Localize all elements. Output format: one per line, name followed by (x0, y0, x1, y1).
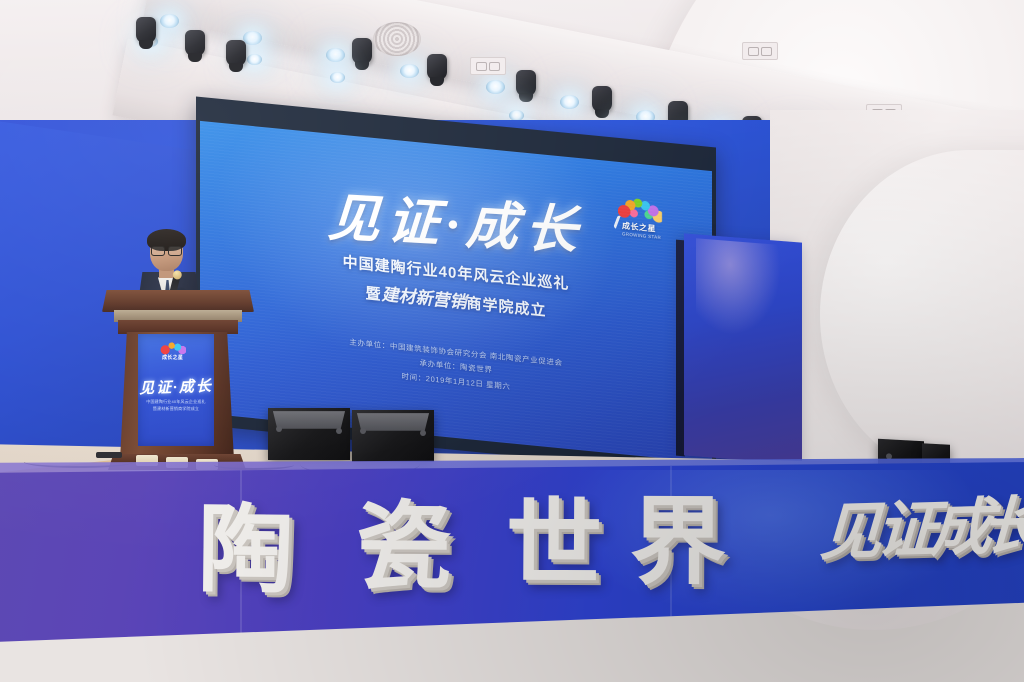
stage-front-brush-char: 见 (819, 501, 884, 565)
moving-head-light-icon (352, 38, 372, 64)
screen-event-logo: 成长之星 GROWING STAR (614, 195, 666, 246)
screen-subtitle-1: 中国建陶行业40年风云企业巡礼 (343, 251, 570, 294)
screen-logo-name: 成长之星 GROWING STAR (622, 220, 661, 240)
glasses-icon (151, 246, 182, 255)
ceiling-plate-icon (742, 42, 778, 60)
podium-sub-line: 中国建陶行业40年风云企业巡礼 (138, 398, 214, 405)
ceiling-spotlight (486, 80, 505, 94)
podium-top (102, 290, 254, 312)
screen-subtitle-2-brush: 建材新营销 (382, 285, 467, 312)
screen-subtitle-2-prefix: 暨 (365, 285, 381, 304)
screen-credits: 主办单位：中国建筑装饰协会研究分会 南北陶瓷产业促进会 承办单位：陶瓷世界 时间… (349, 336, 562, 400)
speaker-knob (886, 453, 892, 459)
ceiling-spotlight (247, 54, 262, 65)
stage-side-panel (684, 233, 802, 464)
speaker-grille (273, 411, 345, 429)
screen-subtitle-2-suffix: 商学院成立 (467, 295, 547, 320)
speaker-knob (360, 428, 366, 434)
event-stage-photo: 见证·成长 中国建陶行业40年风云企业巡礼 暨建材新营销商学院成立 主办单位：中… (0, 0, 1024, 682)
stage-front-char: 世 (506, 497, 603, 594)
moving-head-light-icon (136, 17, 156, 43)
screen-logo-tagline: GROWING STAR (622, 231, 661, 240)
screen-logo-text: 成长之星 (622, 221, 656, 233)
ceiling-vent-icon (373, 22, 421, 56)
ceiling-spotlight (160, 14, 179, 28)
credit-line: 主办单位：中国建筑装饰协会研究分会 南北陶瓷产业促进会 (349, 336, 562, 371)
screen-subtitle-2: 暨建材新营销商学院成立 (365, 278, 546, 321)
moving-head-light-icon (427, 54, 447, 80)
speaker-knob (276, 426, 282, 432)
podium-logo-text: 成长之星 (162, 354, 183, 361)
speaker-knob (336, 428, 342, 434)
screen-headline: 见证·成长 (327, 193, 586, 259)
podium-title: 见证·成长 (138, 375, 214, 399)
stage-front-char: 瓷 (356, 500, 453, 597)
moving-head-light-icon (226, 40, 246, 66)
moving-head-light-icon (592, 86, 612, 112)
moving-head-light-icon (185, 30, 205, 56)
ceiling-spotlight (400, 64, 419, 78)
stage-front-char: 陶 (197, 503, 294, 600)
credit-line: 承办单位：陶瓷世界 (349, 350, 562, 385)
stage-front-char: 界 (630, 495, 726, 591)
ceiling-spotlight (243, 31, 262, 45)
podium-midband (118, 320, 238, 334)
stage-front-brush-char: 长 (981, 495, 1024, 559)
ceiling-spotlight (560, 95, 579, 109)
podium-branding-panel: 成长之星 见证·成长 中国建陶行业40年风云企业巡礼 暨建材新营销商学院成立 (138, 334, 214, 446)
podium-sub-line: 暨建材新营销商学院成立 (138, 405, 214, 412)
logo-swoosh-icon (613, 215, 632, 234)
speaker-knob (420, 430, 426, 436)
moving-head-light-icon (516, 70, 536, 96)
ceiling-spotlight (330, 72, 345, 83)
ceiling-spotlight (326, 48, 345, 62)
podium-subtitle: 中国建陶行业40年风云企业巡礼 暨建材新营销商学院成立 (138, 398, 214, 412)
ceiling-plate-icon (470, 57, 506, 75)
podium-group: 成长之星 见证·成长 中国建陶行业40年风云企业巡礼 暨建材新营销商学院成立 (96, 236, 266, 476)
color-burst-icon (618, 196, 662, 224)
credit-line: 时间：2019年1月12日 星期六 (349, 364, 562, 399)
speaker-grille (357, 413, 429, 431)
